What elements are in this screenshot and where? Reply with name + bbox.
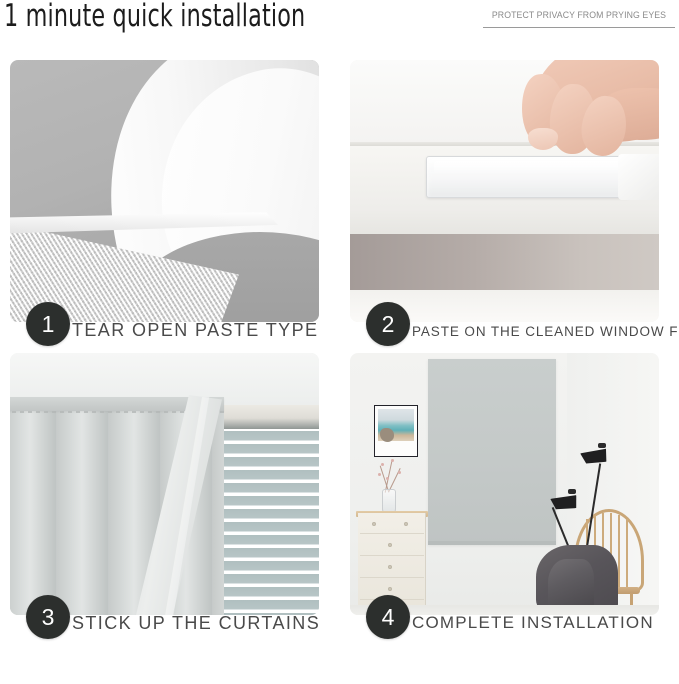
wall-shadow-band xyxy=(350,234,659,292)
step-3-label: STICK UP THE CURTAINS xyxy=(72,613,319,634)
page-title: 1 minute quick installation xyxy=(4,0,305,34)
step-4-photo xyxy=(350,353,659,615)
step-badge-2: 2 xyxy=(366,302,410,346)
step-3-caption: 3 STICK UP THE CURTAINS xyxy=(10,611,319,653)
flower-bud xyxy=(398,471,401,474)
infographic-page: 1 minute quick installation PROTECT PRIV… xyxy=(0,0,679,684)
step-4-label: COMPLETE INSTALLATION xyxy=(412,613,659,633)
dresser-divider xyxy=(360,533,424,534)
framed-artwork xyxy=(374,405,418,457)
step-badge-1: 1 xyxy=(26,302,70,346)
step-2-photo xyxy=(350,60,659,322)
flower-bud xyxy=(378,473,381,476)
step-1-label: TEAR OPEN PASTE TYPE xyxy=(72,320,319,341)
dresser-drawer-line xyxy=(360,555,424,556)
step-3-photo xyxy=(10,353,319,615)
step-badge-3: 3 xyxy=(26,595,70,639)
chair-spindle xyxy=(626,519,628,591)
flower-bud xyxy=(386,477,389,480)
artwork-seascape xyxy=(378,409,414,441)
step-badge-4: 4 xyxy=(366,595,410,639)
dresser-knob xyxy=(404,522,408,526)
step-card-3: 3 STICK UP THE CURTAINS xyxy=(10,353,319,615)
chair-spindle xyxy=(618,515,620,591)
blackout-curtain-panel xyxy=(428,359,556,545)
header: 1 minute quick installation PROTECT PRIV… xyxy=(0,0,679,56)
flower-bud xyxy=(391,459,394,462)
step-4-caption: 4 COMPLETE INSTALLATION xyxy=(350,611,659,653)
step-1-photo xyxy=(10,60,319,322)
step-card-1: 1 TEAR OPEN PASTE TYPE xyxy=(10,60,319,322)
dresser-knob xyxy=(388,587,392,591)
tagline-block: PROTECT PRIVACY FROM PRYING EYES xyxy=(483,10,675,28)
steps-grid: 1 TEAR OPEN PASTE TYPE xyxy=(0,58,679,678)
lamp-shade-cap xyxy=(568,489,576,494)
step-2-label: PASTE ON THE CLEANED WINDOW FRAME xyxy=(412,324,659,339)
tagline-text: PROTECT PRIVACY FROM PRYING EYES xyxy=(491,10,668,21)
lamp-shade-cap xyxy=(598,443,606,448)
hand xyxy=(498,60,659,176)
flower-bud xyxy=(381,463,384,466)
artwork-rock-detail xyxy=(380,428,394,442)
tagline-divider xyxy=(483,27,675,28)
step-card-2: 2 PASTE ON THE CLEANED WINDOW FRAME xyxy=(350,60,659,322)
dresser-knob xyxy=(388,543,392,547)
dresser-knob xyxy=(388,565,392,569)
hand-thumb-tip xyxy=(528,128,558,150)
blackout-curtain-hem xyxy=(428,541,556,545)
dresser-knob xyxy=(372,522,376,526)
dresser-drawer-line xyxy=(360,577,424,578)
step-card-4: 4 COMPLETE INSTALLATION xyxy=(350,353,659,615)
